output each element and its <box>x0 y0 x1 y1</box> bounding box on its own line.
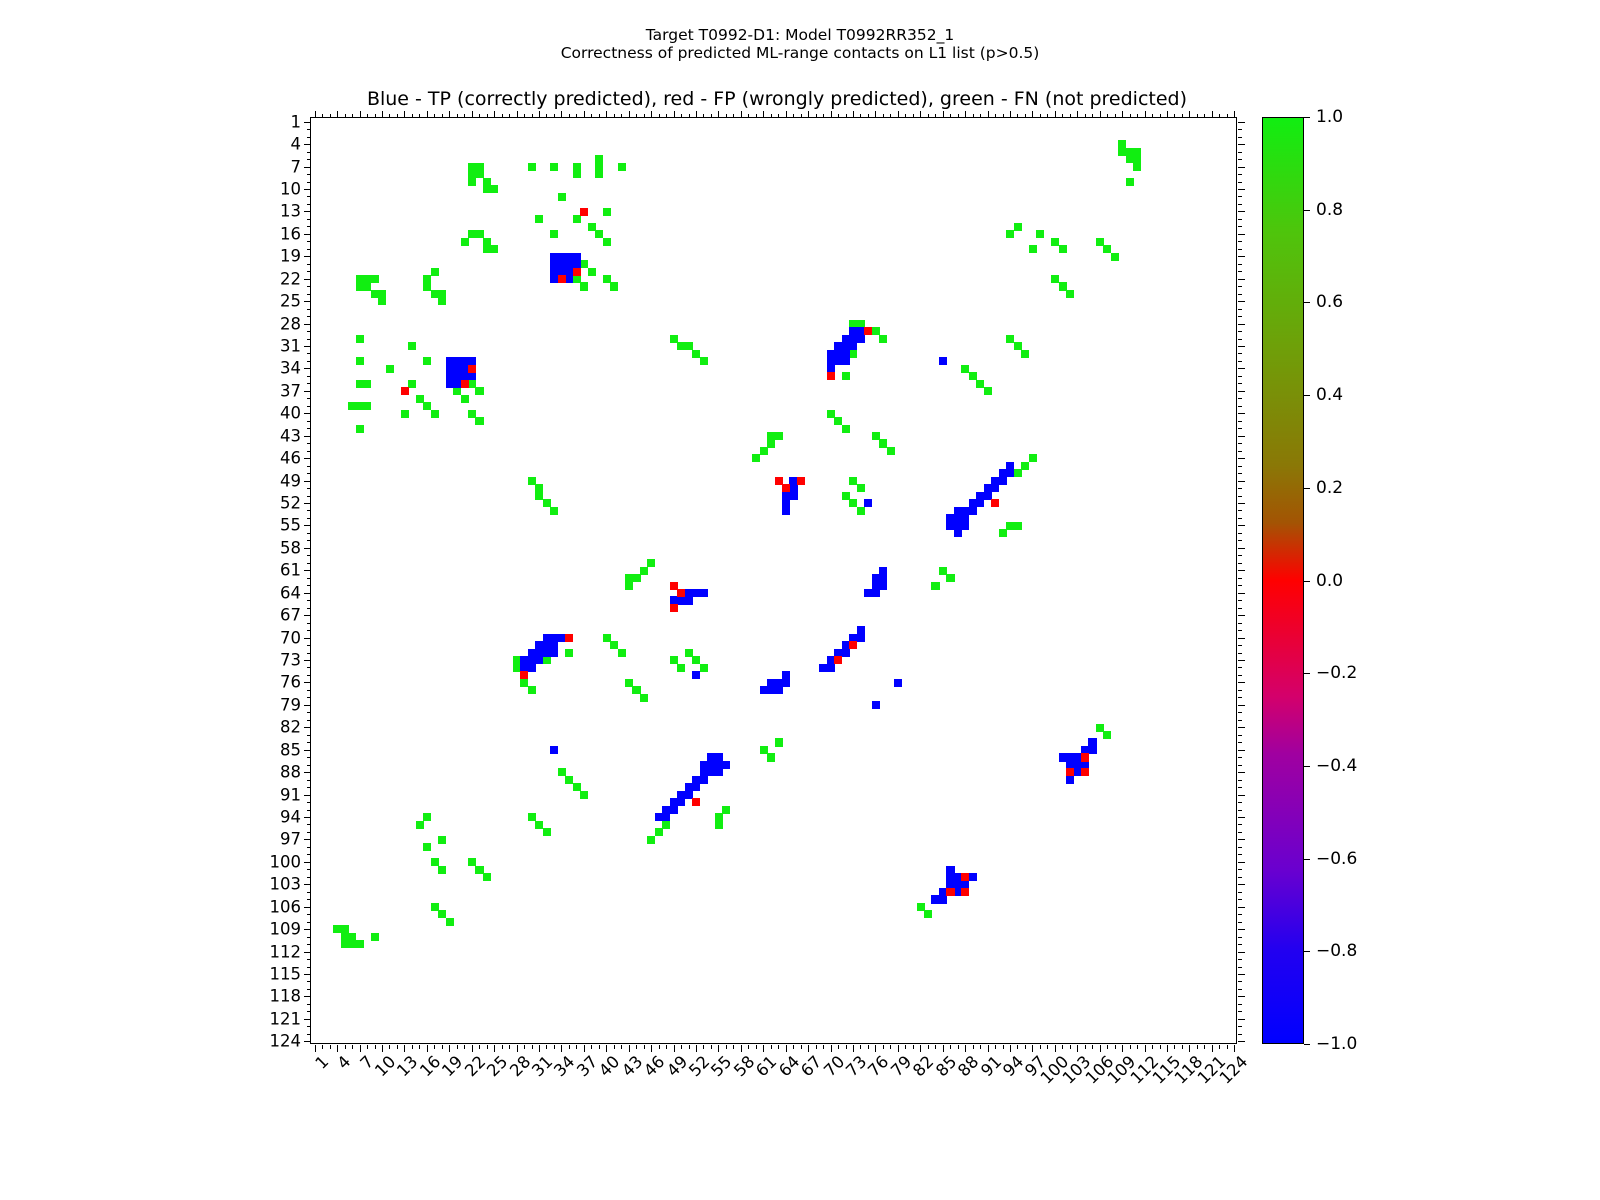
y-tick <box>307 376 311 377</box>
x-tick <box>898 1045 899 1052</box>
y-tick <box>307 294 311 295</box>
x-tick-top <box>965 111 966 118</box>
contact-cell-fn <box>1036 230 1044 238</box>
contact-cell-tp <box>789 492 797 500</box>
contact-cell-tp <box>849 342 857 350</box>
y-tick-right <box>1238 211 1245 212</box>
x-tick-label: 4 <box>334 1052 355 1073</box>
y-tick <box>307 510 311 511</box>
contact-cell-tp <box>692 671 700 679</box>
contact-cell-fp <box>991 499 999 507</box>
contact-cell-fn <box>1029 245 1037 253</box>
y-tick <box>307 623 311 624</box>
x-tick-top <box>711 114 712 118</box>
y-tick <box>307 129 311 130</box>
contact-cell-fn <box>775 738 783 746</box>
colorbar-tick <box>1304 951 1310 952</box>
x-tick <box>345 1045 346 1049</box>
x-tick <box>1003 1045 1004 1049</box>
contact-cell-fn <box>528 163 536 171</box>
y-tick-right <box>1238 675 1242 676</box>
y-tick-right <box>1238 443 1242 444</box>
x-tick-top <box>838 114 839 118</box>
x-tick <box>419 1045 420 1049</box>
y-tick-label: 46 <box>280 449 301 468</box>
x-tick-top <box>322 114 323 118</box>
contact-cell-fn <box>588 268 596 276</box>
y-tick-label: 40 <box>280 404 301 423</box>
x-tick-top <box>920 111 921 118</box>
y-tick-label: 88 <box>280 763 301 782</box>
y-tick <box>307 847 311 848</box>
x-tick-top <box>352 114 353 118</box>
y-tick-label: 31 <box>280 337 301 356</box>
y-tick <box>307 600 311 601</box>
contact-cell-fn <box>1066 290 1074 298</box>
y-tick-label: 19 <box>280 247 301 266</box>
y-tick-right <box>1238 981 1242 982</box>
x-tick-top <box>808 111 809 118</box>
contact-cell-fp <box>461 380 469 388</box>
y-tick-right <box>1238 466 1242 467</box>
x-tick <box>382 1045 383 1052</box>
contact-cell-fn <box>468 178 476 186</box>
y-tick <box>307 196 311 197</box>
x-tick <box>1010 1045 1011 1052</box>
contact-cell-fn <box>438 297 446 305</box>
contact-cell-tp <box>722 761 730 769</box>
x-tick <box>487 1045 488 1049</box>
x-tick <box>666 1045 667 1049</box>
y-tick-right <box>1238 376 1242 377</box>
y-tick-label: 34 <box>280 359 301 378</box>
y-tick-right <box>1238 690 1242 691</box>
x-tick <box>554 1045 555 1049</box>
y-tick <box>307 869 311 870</box>
x-tick <box>561 1045 562 1052</box>
contact-cell-tp <box>760 686 768 694</box>
contact-cell-tp <box>715 768 723 776</box>
y-tick <box>304 772 311 773</box>
y-tick <box>307 667 311 668</box>
y-tick <box>307 496 311 497</box>
contact-cell-fn <box>924 910 932 918</box>
x-tick-top <box>569 114 570 118</box>
contact-cell-fn <box>887 447 895 455</box>
x-tick-top <box>412 114 413 118</box>
y-tick-right <box>1238 1019 1245 1020</box>
contact-cell-fp <box>849 641 857 649</box>
x-tick-top <box>898 111 899 118</box>
contact-cell-fn <box>842 372 850 380</box>
contact-cell-fp <box>961 888 969 896</box>
x-tick <box>539 1045 540 1052</box>
x-tick <box>1040 1045 1041 1049</box>
x-tick <box>1017 1045 1018 1049</box>
x-tick <box>434 1045 435 1049</box>
x-tick-top <box>1115 114 1116 118</box>
y-tick <box>304 1019 311 1020</box>
contact-cell-tp <box>565 275 573 283</box>
y-tick-right <box>1238 1041 1245 1042</box>
x-tick-top <box>487 114 488 118</box>
y-tick-label: 121 <box>270 1009 302 1028</box>
x-tick <box>1227 1045 1228 1049</box>
y-tick-right <box>1238 967 1242 968</box>
contact-cell-fn <box>386 365 394 373</box>
y-tick-right <box>1238 944 1242 945</box>
contact-cell-fn <box>356 335 364 343</box>
x-tick-top <box>546 114 547 118</box>
contact-cell-tp <box>872 701 880 709</box>
x-tick-top <box>337 111 338 118</box>
y-tick <box>304 234 311 235</box>
x-tick <box>1145 1045 1146 1052</box>
y-tick <box>304 1041 311 1042</box>
colorbar-tick-label: −0.2 <box>1316 663 1357 683</box>
x-tick <box>771 1045 772 1049</box>
x-tick-top <box>928 114 929 118</box>
contact-cell-fn <box>408 380 416 388</box>
contact-cell-fn <box>752 454 760 462</box>
x-tick <box>748 1045 749 1049</box>
contact-cell-fn <box>640 694 648 702</box>
contact-cell-fn <box>700 357 708 365</box>
x-tick-top <box>449 111 450 118</box>
x-tick <box>756 1045 757 1049</box>
y-tick <box>307 720 311 721</box>
y-tick-label: 55 <box>280 516 301 535</box>
y-tick <box>307 645 311 646</box>
x-tick <box>816 1045 817 1049</box>
colorbar-tick <box>1304 859 1310 860</box>
x-tick <box>337 1045 338 1052</box>
y-tick-right <box>1238 810 1242 811</box>
contact-cell-tp <box>1066 753 1074 761</box>
contact-cell-tp <box>1006 469 1014 477</box>
y-tick-right <box>1238 286 1242 287</box>
colorbar-tick-label: 0.4 <box>1316 385 1343 405</box>
contact-cell-fn <box>618 649 626 657</box>
contact-cell-fn <box>408 342 416 350</box>
contact-cell-fn <box>984 387 992 395</box>
x-tick <box>741 1045 742 1052</box>
contact-cell-fn <box>423 813 431 821</box>
x-tick <box>1189 1045 1190 1052</box>
y-tick <box>307 421 311 422</box>
y-tick-label: 43 <box>280 426 301 445</box>
x-tick-top <box>988 111 989 118</box>
contact-cell-tp <box>969 873 977 881</box>
y-tick-right <box>1238 563 1242 564</box>
contact-cell-tp <box>857 626 865 634</box>
y-tick-right <box>1238 772 1245 773</box>
x-tick <box>1062 1045 1063 1049</box>
contact-cell-fn <box>423 843 431 851</box>
x-tick-top <box>1040 114 1041 118</box>
x-tick-top <box>1160 114 1161 118</box>
contact-cell-fn <box>1006 230 1014 238</box>
x-tick-top <box>1010 111 1011 118</box>
x-tick-top <box>778 114 779 118</box>
x-tick <box>1107 1045 1108 1049</box>
x-tick <box>1167 1045 1168 1052</box>
y-tick <box>307 810 311 811</box>
y-tick-right <box>1238 428 1242 429</box>
contact-cell-tp <box>939 895 947 903</box>
y-tick-label: 67 <box>280 606 301 625</box>
contact-cell-fn <box>760 447 768 455</box>
y-tick <box>304 996 311 997</box>
contact-cell-tp <box>961 522 969 530</box>
y-tick <box>307 316 311 317</box>
x-tick <box>718 1045 719 1052</box>
y-tick <box>304 839 311 840</box>
x-tick <box>778 1045 779 1049</box>
contact-cell-fn <box>775 432 783 440</box>
y-tick <box>307 563 311 564</box>
x-tick-top <box>644 114 645 118</box>
y-tick-right <box>1238 174 1242 175</box>
y-tick-right <box>1238 638 1245 639</box>
contact-cell-fp <box>797 477 805 485</box>
contact-cell-tp <box>999 477 1007 485</box>
y-tick <box>304 413 311 414</box>
y-tick-label: 10 <box>280 180 301 199</box>
x-tick-top <box>718 111 719 118</box>
contact-cell-fn <box>580 282 588 290</box>
x-tick-top <box>532 114 533 118</box>
contact-cell-tp <box>842 357 850 365</box>
y-tick-right <box>1238 540 1242 541</box>
x-tick <box>584 1045 585 1052</box>
contact-cell-tp <box>976 499 984 507</box>
y-tick-right <box>1238 780 1242 781</box>
y-tick-right <box>1238 570 1245 571</box>
y-tick-right <box>1238 937 1242 938</box>
contact-cell-fn <box>580 791 588 799</box>
y-tick-right <box>1238 496 1242 497</box>
x-tick <box>397 1045 398 1049</box>
y-tick <box>307 219 311 220</box>
y-tick <box>304 638 311 639</box>
y-tick-right <box>1238 593 1245 594</box>
y-tick-label: 4 <box>291 135 302 154</box>
x-tick <box>973 1045 974 1049</box>
y-tick-right <box>1238 585 1242 586</box>
x-tick-top <box>561 111 562 118</box>
x-tick <box>988 1045 989 1052</box>
contact-cell-tp <box>827 664 835 672</box>
contact-cell-tp <box>535 656 543 664</box>
y-tick <box>307 854 311 855</box>
x-tick <box>1092 1045 1093 1049</box>
y-tick-right <box>1238 952 1245 953</box>
contact-cell-fn <box>715 821 723 829</box>
x-tick-top <box>935 114 936 118</box>
y-tick <box>307 824 311 825</box>
contact-cell-fn <box>1014 469 1022 477</box>
colorbar-tick <box>1304 210 1310 211</box>
y-tick <box>304 481 311 482</box>
contact-cell-fn <box>461 238 469 246</box>
y-tick-right <box>1238 346 1245 347</box>
colorbar-tick <box>1304 302 1310 303</box>
x-tick <box>442 1045 443 1049</box>
contact-cell-fn <box>618 163 626 171</box>
x-tick-top <box>1167 111 1168 118</box>
contact-cell-fn <box>670 335 678 343</box>
x-tick <box>621 1045 622 1049</box>
x-tick-top <box>442 114 443 118</box>
x-tick <box>322 1045 323 1049</box>
y-tick-label: 124 <box>270 1032 302 1051</box>
x-tick-top <box>427 111 428 118</box>
x-tick-top <box>606 111 607 118</box>
y-tick-label: 94 <box>280 807 301 826</box>
x-tick <box>965 1045 966 1052</box>
y-tick-right <box>1238 623 1242 624</box>
x-tick-top <box>883 114 884 118</box>
x-tick <box>860 1045 861 1049</box>
x-tick <box>1122 1045 1123 1052</box>
colorbar-tick-label: −0.4 <box>1316 756 1357 776</box>
y-tick <box>307 735 311 736</box>
contact-cell-fp <box>1081 753 1089 761</box>
x-tick <box>1085 1045 1086 1049</box>
y-tick <box>304 256 311 257</box>
y-tick <box>304 884 311 885</box>
x-tick <box>823 1045 824 1049</box>
y-tick <box>307 152 311 153</box>
y-tick-right <box>1238 959 1242 960</box>
y-tick <box>307 697 311 698</box>
y-tick-right <box>1238 241 1242 242</box>
x-tick-top <box>756 114 757 118</box>
y-tick <box>307 959 311 960</box>
contact-cell-fn <box>431 268 439 276</box>
y-tick <box>304 929 311 930</box>
y-tick-right <box>1238 862 1245 863</box>
y-tick <box>307 892 311 893</box>
y-tick-right <box>1238 742 1242 743</box>
x-tick <box>457 1045 458 1049</box>
x-tick <box>928 1045 929 1049</box>
x-tick-top <box>360 111 361 118</box>
contact-cell-fn <box>722 806 730 814</box>
colorbar-tick <box>1304 1044 1310 1045</box>
y-tick <box>307 466 311 467</box>
y-tick-right <box>1238 653 1242 654</box>
colorbar-tick <box>1304 488 1310 489</box>
y-tick-right <box>1238 510 1242 511</box>
x-tick <box>920 1045 921 1052</box>
y-tick-right <box>1238 413 1245 414</box>
y-tick-right <box>1238 548 1245 549</box>
y-tick-right <box>1238 1004 1242 1005</box>
x-tick-top <box>733 114 734 118</box>
contact-cell-tp <box>1088 746 1096 754</box>
contact-map-cells <box>311 118 1236 1043</box>
contact-cell-tp <box>775 686 783 694</box>
y-tick-right <box>1238 137 1242 138</box>
x-tick-top <box>315 111 316 118</box>
y-tick-right <box>1238 727 1245 728</box>
x-tick-top <box>681 114 682 118</box>
contact-cell-fn <box>1021 350 1029 358</box>
x-tick-top <box>1212 111 1213 118</box>
contact-cell-fp <box>565 634 573 642</box>
y-tick-right <box>1238 735 1242 736</box>
contact-cell-fn <box>363 402 371 410</box>
x-tick <box>950 1045 951 1049</box>
x-tick-top <box>494 111 495 118</box>
x-tick <box>375 1045 376 1049</box>
x-tick <box>689 1045 690 1049</box>
contact-cell-tp <box>692 783 700 791</box>
y-tick-right <box>1238 705 1245 706</box>
y-tick <box>307 712 311 713</box>
contact-cell-fp <box>834 656 842 664</box>
contact-cell-fn <box>483 873 491 881</box>
y-tick <box>307 182 311 183</box>
y-tick-right <box>1238 189 1245 190</box>
contact-cell-fn <box>1029 454 1037 462</box>
y-tick <box>307 137 311 138</box>
x-tick-top <box>345 114 346 118</box>
contact-cell-fn <box>438 836 446 844</box>
x-tick <box>890 1045 891 1049</box>
contact-cell-fn <box>416 821 424 829</box>
x-tick-top <box>1145 111 1146 118</box>
y-tick-label: 58 <box>280 538 301 557</box>
contact-cell-tp <box>782 679 790 687</box>
y-tick <box>307 608 311 609</box>
x-tick-top <box>651 111 652 118</box>
x-tick <box>1212 1045 1213 1052</box>
x-tick <box>479 1045 480 1049</box>
y-tick-right <box>1238 697 1242 698</box>
y-tick-right <box>1238 533 1242 534</box>
contact-cell-fn <box>857 484 865 492</box>
y-tick-right <box>1238 892 1242 893</box>
contact-cell-fn <box>431 410 439 418</box>
x-tick <box>793 1045 794 1049</box>
x-tick <box>868 1045 869 1049</box>
x-tick-top <box>1062 114 1063 118</box>
x-tick-top <box>621 114 622 118</box>
y-tick-right <box>1238 182 1242 183</box>
y-tick-label: 118 <box>270 987 302 1006</box>
x-tick <box>935 1045 936 1049</box>
x-tick <box>958 1045 959 1049</box>
x-tick <box>1182 1045 1183 1049</box>
y-tick-right <box>1238 1026 1242 1027</box>
contact-cell-fn <box>356 425 364 433</box>
colorbar <box>1262 117 1304 1044</box>
y-tick-right <box>1238 398 1242 399</box>
x-tick-top <box>1047 114 1048 118</box>
y-tick-label: 64 <box>280 583 301 602</box>
x-tick-top <box>659 114 660 118</box>
contact-cell-fp <box>692 798 700 806</box>
x-tick-top <box>674 111 675 118</box>
contact-cell-fn <box>632 574 640 582</box>
y-tick-right <box>1238 757 1242 758</box>
contact-map-plot-area: 1471013161922252831343740434649525558616… <box>310 117 1237 1044</box>
y-tick <box>304 705 311 706</box>
y-tick-right <box>1238 996 1245 997</box>
